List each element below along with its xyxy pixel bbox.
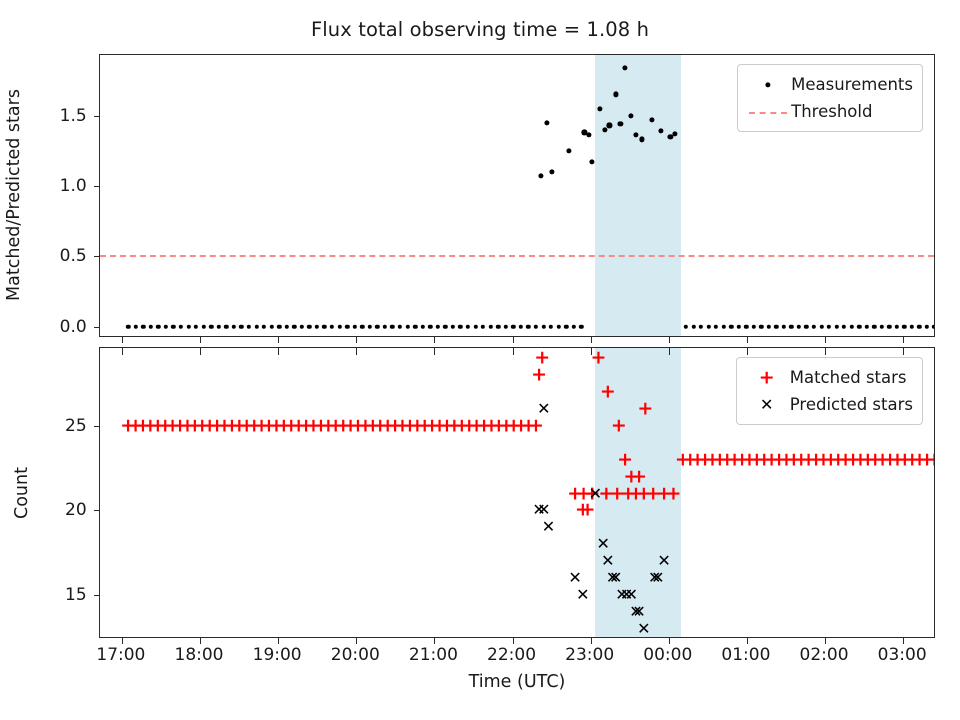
measurement-point-zero bbox=[880, 325, 884, 329]
measurement-point bbox=[549, 169, 554, 174]
legend-label-predicted-stars: Predicted stars bbox=[790, 395, 913, 414]
predicted-star-marker: ✕ bbox=[601, 553, 614, 569]
predicted-star-marker: ✕ bbox=[609, 570, 622, 586]
measurement-point bbox=[587, 133, 592, 138]
measurement-point-zero bbox=[307, 325, 311, 329]
x-axis-tick-label: 19:00 bbox=[253, 645, 302, 665]
x-axis-tick bbox=[825, 637, 826, 644]
measurement-point-zero bbox=[141, 325, 145, 329]
x-axis-tick-label: 02:00 bbox=[800, 645, 849, 665]
measurement-point-zero bbox=[887, 325, 891, 329]
measurement-point-zero bbox=[481, 325, 485, 329]
predicted-star-marker: ✕ bbox=[576, 587, 589, 603]
top-panel-ylabel: Matched/Predicted stars bbox=[4, 89, 24, 301]
measurement-point-zero bbox=[428, 325, 432, 329]
predicted-star-marker: ✕ bbox=[596, 536, 609, 552]
x-axis-tick bbox=[434, 637, 435, 644]
measurement-point-zero bbox=[526, 325, 530, 329]
bottom-panel-ylabel: Count bbox=[12, 467, 32, 519]
measurement-point-zero bbox=[691, 325, 695, 329]
measurement-point-zero bbox=[443, 325, 447, 329]
predicted-star-marker: ✕ bbox=[568, 570, 581, 586]
measurement-point-zero bbox=[232, 325, 236, 329]
x-axis-tick bbox=[200, 336, 201, 343]
measurement-point-zero bbox=[337, 325, 341, 329]
x-axis-tick bbox=[591, 336, 592, 343]
x-axis-tick bbox=[122, 637, 123, 644]
measurement-point-zero bbox=[277, 325, 281, 329]
y-axis-tick-label: 1.5 bbox=[60, 106, 92, 126]
x-axis-tick-label: 18:00 bbox=[175, 645, 224, 665]
x-axis-tick bbox=[513, 336, 514, 343]
x-axis-tick-inner bbox=[356, 348, 357, 355]
measurement-point-zero bbox=[872, 325, 876, 329]
measurement-point-zero bbox=[247, 325, 251, 329]
x-axis-tick-inner bbox=[903, 348, 904, 355]
ratio-panel-legend: Measurements Threshold bbox=[737, 64, 923, 132]
measurement-point-zero bbox=[405, 325, 409, 329]
measurement-point-zero bbox=[179, 325, 183, 329]
measurement-point-zero bbox=[390, 325, 394, 329]
measurement-point-zero bbox=[789, 325, 793, 329]
y-axis-tick bbox=[94, 426, 101, 427]
measurement-point-zero bbox=[684, 325, 688, 329]
measurement-point-zero bbox=[759, 325, 763, 329]
y-axis-tick bbox=[94, 116, 101, 117]
measurement-point-zero bbox=[910, 325, 914, 329]
ratio-panel-axes: Measurements Threshold 0.00.51.01.5 bbox=[99, 54, 935, 337]
measurement-point-zero bbox=[556, 325, 560, 329]
legend-entry-measurements: Measurements bbox=[745, 71, 913, 98]
figure-title: Flux total observing time = 1.08 h bbox=[0, 18, 960, 41]
measurement-point-zero bbox=[209, 325, 213, 329]
measurement-point-zero bbox=[774, 325, 778, 329]
measurement-point-zero bbox=[262, 325, 266, 329]
measurement-point-zero bbox=[458, 325, 462, 329]
y-axis-tick-label: 0.5 bbox=[60, 246, 92, 266]
measurement-point-zero bbox=[932, 325, 934, 329]
measurement-point-zero bbox=[782, 325, 786, 329]
x-axis-label: Time (UTC) bbox=[469, 672, 566, 692]
measurement-point-zero bbox=[572, 325, 576, 329]
legend-label-threshold: Threshold bbox=[791, 102, 872, 121]
measurement-point-zero bbox=[842, 325, 846, 329]
measurement-point-zero bbox=[217, 325, 221, 329]
measurement-point-zero bbox=[413, 325, 417, 329]
x-axis-tick bbox=[591, 637, 592, 644]
predicted-star-marker: ✕ bbox=[537, 502, 550, 518]
measurement-point-zero bbox=[353, 325, 357, 329]
measurement-point-zero bbox=[804, 325, 808, 329]
y-axis-tick bbox=[94, 510, 101, 511]
measurement-point-zero bbox=[201, 325, 205, 329]
measurement-point-zero bbox=[895, 325, 899, 329]
figure-canvas: Flux total observing time = 1.08 h Match… bbox=[0, 0, 960, 720]
legend-entry-matched-stars: + Matched stars bbox=[744, 364, 913, 391]
measurement-point-zero bbox=[902, 325, 906, 329]
y-axis-tick-label: 15 bbox=[65, 585, 92, 605]
x-axis-tick bbox=[825, 336, 826, 343]
measurement-point-zero bbox=[864, 325, 868, 329]
dashed-line-icon bbox=[745, 102, 791, 122]
measurement-point-zero bbox=[383, 325, 387, 329]
measurement-point-zero bbox=[322, 325, 326, 329]
predicted-star-marker: ✕ bbox=[542, 519, 555, 535]
x-axis-tick-inner bbox=[513, 348, 514, 355]
x-axis-tick bbox=[200, 637, 201, 644]
predicted-star-marker: ✕ bbox=[537, 401, 550, 417]
x-axis-tick bbox=[747, 336, 748, 343]
x-axis-tick-inner bbox=[200, 348, 201, 355]
measurement-point-zero bbox=[812, 325, 816, 329]
x-axis-tick-label: 03:00 bbox=[878, 645, 927, 665]
measurement-point-zero bbox=[420, 325, 424, 329]
measurement-point-zero bbox=[699, 325, 703, 329]
measurement-point bbox=[566, 148, 571, 153]
measurement-point-zero bbox=[375, 325, 379, 329]
measurement-point bbox=[538, 173, 543, 178]
matched-star-marker: + bbox=[637, 399, 653, 418]
measurement-point-zero bbox=[126, 325, 130, 329]
matched-star-marker: + bbox=[926, 450, 934, 469]
x-axis-tick bbox=[278, 637, 279, 644]
matched-star-marker: + bbox=[531, 366, 547, 385]
measurement-point-zero bbox=[285, 325, 289, 329]
measurement-point-zero bbox=[156, 325, 160, 329]
x-axis-tick-inner bbox=[122, 348, 123, 355]
measurement-point-zero bbox=[315, 325, 319, 329]
x-axis-tick bbox=[356, 637, 357, 644]
plus-marker-icon: + bbox=[744, 368, 790, 388]
y-axis-tick-label: 25 bbox=[65, 416, 92, 436]
measurement-point-zero bbox=[164, 325, 168, 329]
measurement-point-zero bbox=[171, 325, 175, 329]
threshold-line bbox=[100, 255, 934, 257]
measurement-point-zero bbox=[360, 325, 364, 329]
measurement-point-zero bbox=[834, 325, 838, 329]
x-axis-tick bbox=[747, 637, 748, 644]
legend-label-matched-stars: Matched stars bbox=[790, 368, 907, 387]
measurement-point-zero bbox=[541, 325, 545, 329]
measurement-point-zero bbox=[269, 325, 273, 329]
measurement-point-zero bbox=[466, 325, 470, 329]
y-axis-tick-label: 1.0 bbox=[60, 176, 92, 196]
measurement-point-zero bbox=[224, 325, 228, 329]
measurement-point-zero bbox=[721, 325, 725, 329]
x-axis-tick-inner bbox=[669, 348, 670, 355]
predicted-star-marker: ✕ bbox=[657, 553, 670, 569]
measurement-point-zero bbox=[300, 325, 304, 329]
measurement-point-zero bbox=[345, 325, 349, 329]
measurement-point-zero bbox=[925, 325, 929, 329]
x-axis-tick-inner bbox=[278, 348, 279, 355]
x-axis-tick bbox=[122, 336, 123, 343]
x-axis-tick bbox=[669, 637, 670, 644]
measurement-point-zero bbox=[706, 325, 710, 329]
measurement-point-zero bbox=[292, 325, 296, 329]
x-axis-tick-inner bbox=[434, 348, 435, 355]
measurement-point-zero bbox=[767, 325, 771, 329]
measurement-point-zero bbox=[194, 325, 198, 329]
measurement-point-zero bbox=[819, 325, 823, 329]
measurement-point-zero bbox=[714, 325, 718, 329]
measurement-point-zero bbox=[504, 325, 508, 329]
measurement-point-zero bbox=[149, 325, 153, 329]
dot-marker-icon bbox=[745, 75, 791, 95]
x-axis-tick-label: 22:00 bbox=[487, 645, 536, 665]
x-axis-tick-inner bbox=[747, 348, 748, 355]
x-axis-tick bbox=[903, 637, 904, 644]
predicted-star-marker: ✕ bbox=[632, 604, 645, 620]
x-axis-tick-label: 00:00 bbox=[643, 645, 692, 665]
y-axis-tick-label: 20 bbox=[65, 500, 92, 520]
measurement-point-zero bbox=[133, 325, 137, 329]
y-axis-tick bbox=[94, 186, 101, 187]
measurement-point-zero bbox=[436, 325, 440, 329]
measurement-point-zero bbox=[488, 325, 492, 329]
matched-star-marker: + bbox=[611, 416, 627, 435]
legend-entry-threshold: Threshold bbox=[745, 98, 913, 125]
x-axis-tick bbox=[434, 336, 435, 343]
measurement-point-zero bbox=[744, 325, 748, 329]
measurement-point-zero bbox=[239, 325, 243, 329]
matched-star-marker: + bbox=[666, 484, 682, 503]
measurement-point-zero bbox=[330, 325, 334, 329]
measurement-point-zero bbox=[186, 325, 190, 329]
count-panel-axes: ++++++++++++++++++++++++++++++++++++++++… bbox=[99, 347, 935, 638]
predicted-star-marker: ✕ bbox=[637, 621, 650, 637]
measurement-point-zero bbox=[579, 325, 583, 329]
x-axis-tick-label: 20:00 bbox=[331, 645, 380, 665]
count-panel-legend: + Matched stars ✕ Predicted stars bbox=[736, 357, 923, 425]
legend-entry-predicted-stars: ✕ Predicted stars bbox=[744, 391, 913, 418]
measurement-point-zero bbox=[519, 325, 523, 329]
measurement-point-zero bbox=[511, 325, 515, 329]
y-axis-tick bbox=[94, 327, 101, 328]
measurement-point-zero bbox=[398, 325, 402, 329]
x-axis-tick bbox=[513, 637, 514, 644]
measurement-point-zero bbox=[534, 325, 538, 329]
measurement-point-zero bbox=[254, 325, 258, 329]
x-axis-tick-inner bbox=[591, 348, 592, 355]
x-axis-tick-inner bbox=[825, 348, 826, 355]
measurement-point-zero bbox=[564, 325, 568, 329]
measurement-point bbox=[544, 120, 549, 125]
y-axis-tick-label: 0.0 bbox=[60, 317, 92, 337]
legend-label-measurements: Measurements bbox=[791, 75, 913, 94]
x-axis-tick-label: 01:00 bbox=[721, 645, 770, 665]
y-axis-tick bbox=[94, 595, 101, 596]
matched-star-marker: + bbox=[528, 416, 544, 435]
cross-marker-icon: ✕ bbox=[744, 395, 790, 415]
y-axis-tick bbox=[94, 256, 101, 257]
measurement-point-zero bbox=[736, 325, 740, 329]
predicted-star-marker: ✕ bbox=[625, 587, 638, 603]
shaded-observing-window bbox=[595, 55, 681, 336]
measurement-point-zero bbox=[797, 325, 801, 329]
x-axis-tick-label: 17:00 bbox=[96, 645, 145, 665]
predicted-star-marker: ✕ bbox=[589, 486, 602, 502]
measurement-point-zero bbox=[917, 325, 921, 329]
measurement-point-zero bbox=[451, 325, 455, 329]
matched-star-marker: + bbox=[600, 382, 616, 401]
x-axis-tick bbox=[278, 336, 279, 343]
x-axis-tick-label: 21:00 bbox=[409, 645, 458, 665]
measurement-point-zero bbox=[729, 325, 733, 329]
measurement-point-zero bbox=[549, 325, 553, 329]
measurement-point-zero bbox=[473, 325, 477, 329]
matched-star-marker: + bbox=[591, 349, 607, 368]
x-axis-tick-label: 23:00 bbox=[565, 645, 614, 665]
measurement-point-zero bbox=[827, 325, 831, 329]
x-axis-tick bbox=[903, 336, 904, 343]
measurement-point-zero bbox=[496, 325, 500, 329]
x-axis-tick bbox=[669, 336, 670, 343]
x-axis-tick bbox=[356, 336, 357, 343]
predicted-star-marker: ✕ bbox=[651, 570, 664, 586]
measurement-point-zero bbox=[752, 325, 756, 329]
measurement-point-zero bbox=[849, 325, 853, 329]
measurement-point-zero bbox=[857, 325, 861, 329]
measurement-point-zero bbox=[368, 325, 372, 329]
